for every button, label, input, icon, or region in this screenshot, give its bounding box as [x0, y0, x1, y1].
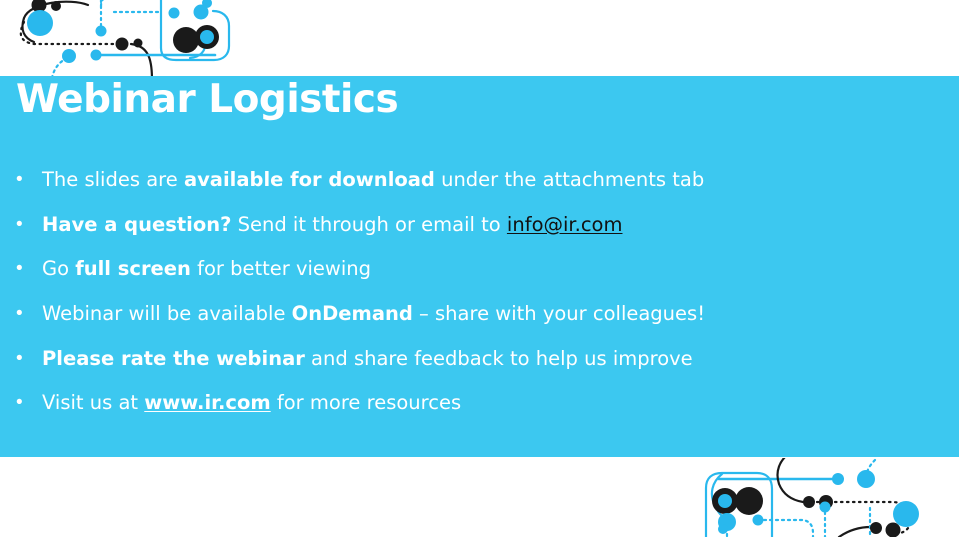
slide-webinar-logistics: Webinar Logistics • The slides are avail… [0, 0, 959, 537]
list-item: • Visit us at www.ir.com for more resour… [0, 381, 940, 426]
list-item: • Have a question? Send it through or em… [0, 203, 940, 248]
list-item: • The slides are available for download … [0, 158, 940, 203]
page-title: Webinar Logistics [16, 76, 816, 124]
website-link[interactable]: www.ir.com [144, 391, 270, 414]
text-run: under the attachments tab [435, 168, 704, 191]
text-run: – share with your colleagues! [413, 302, 705, 325]
text-run: for more resources [271, 391, 461, 414]
list-item: • Please rate the webinar and share feed… [0, 337, 940, 382]
text-run-bold: Please rate the webinar [42, 347, 305, 370]
list-item: • Webinar will be available OnDemand – s… [0, 292, 940, 337]
text-run-bold: available for download [184, 168, 435, 191]
bullet-marker: • [16, 292, 28, 337]
text-run: for better viewing [191, 257, 371, 280]
bullet-list: • The slides are available for download … [0, 158, 940, 426]
text-run: Go [42, 257, 75, 280]
list-item-text: Please rate the webinar and share feedba… [42, 337, 693, 382]
text-run-bold: Have a question? [42, 213, 231, 236]
list-item-text: Have a question? Send it through or emai… [42, 203, 622, 248]
email-link[interactable]: info@ir.com [507, 213, 623, 236]
bullet-marker: • [16, 337, 28, 382]
text-run-bold: full screen [75, 257, 191, 280]
bullet-marker: • [16, 158, 28, 203]
list-item-text: Visit us at www.ir.com for more resource… [42, 381, 461, 426]
text-run: The slides are [42, 168, 184, 191]
list-item-text: Go full screen for better viewing [42, 247, 371, 292]
bullet-marker: • [16, 247, 28, 292]
circuit-dots-graphic-top-left [0, 0, 280, 78]
text-run: Visit us at [42, 391, 144, 414]
list-item-text: Webinar will be available OnDemand – sha… [42, 292, 705, 337]
bullet-marker: • [16, 381, 28, 426]
text-run-bold: OnDemand [292, 302, 413, 325]
text-run: and share feedback to help us improve [305, 347, 693, 370]
circuit-dots-graphic-bottom-right [679, 458, 959, 537]
text-run: Webinar will be available [42, 302, 292, 325]
bullet-marker: • [16, 203, 28, 248]
list-item: • Go full screen for better viewing [0, 247, 940, 292]
list-item-text: The slides are available for download un… [42, 158, 704, 203]
text-run: Send it through or email to [231, 213, 507, 236]
